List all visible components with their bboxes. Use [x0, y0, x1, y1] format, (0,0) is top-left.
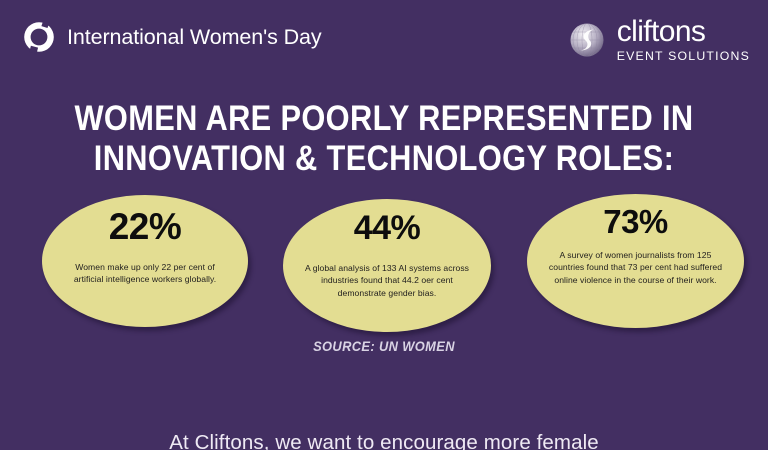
iwd-wordmark: International Women's Day [67, 25, 322, 50]
stat-value: 73% [603, 205, 668, 238]
headline: Women are poorly represented in Innovati… [46, 99, 722, 179]
headline-line-2: Innovation & Technology roles: [46, 139, 722, 179]
stat-card-22: 22% Women make up only 22 per cent of ar… [42, 195, 248, 327]
stat-card-44: 44% A global analysis of 133 AI systems … [283, 199, 491, 332]
footer-message: At Cliftons, we want to encourage more f… [0, 368, 768, 450]
infographic-canvas: International Women's Day [0, 0, 768, 450]
source-credit: Source: UN Women [31, 338, 738, 354]
cliftons-name: cliftons [617, 18, 706, 47]
cliftons-sphere-icon [565, 18, 609, 62]
cliftons-tagline: EVENT SOLUTIONS [617, 50, 750, 62]
stat-card-73: 73% A survey of women journalists from 1… [527, 194, 744, 328]
stat-description: A global analysis of 133 AI systems acro… [298, 262, 476, 299]
stat-value: 44% [354, 211, 421, 245]
stat-value: 22% [109, 208, 182, 245]
header: International Women's Day [0, 0, 768, 82]
cliftons-wordmark-block: cliftons EVENT SOLUTIONS [617, 18, 750, 62]
cliftons-logo-lockup: cliftons EVENT SOLUTIONS [565, 18, 750, 62]
headline-line-1: Women are poorly represented in [46, 99, 722, 139]
iwd-circle-icon [22, 20, 56, 54]
stat-description: Women make up only 22 per cent of artifi… [63, 261, 228, 286]
footer-message-line-1: At Cliftons, we want to encourage more f… [0, 428, 768, 450]
stat-description: A survey of women journalists from 125 c… [544, 249, 728, 286]
stat-group: 22% Women make up only 22 per cent of ar… [0, 190, 768, 340]
iwd-logo-lockup: International Women's Day [22, 20, 322, 54]
